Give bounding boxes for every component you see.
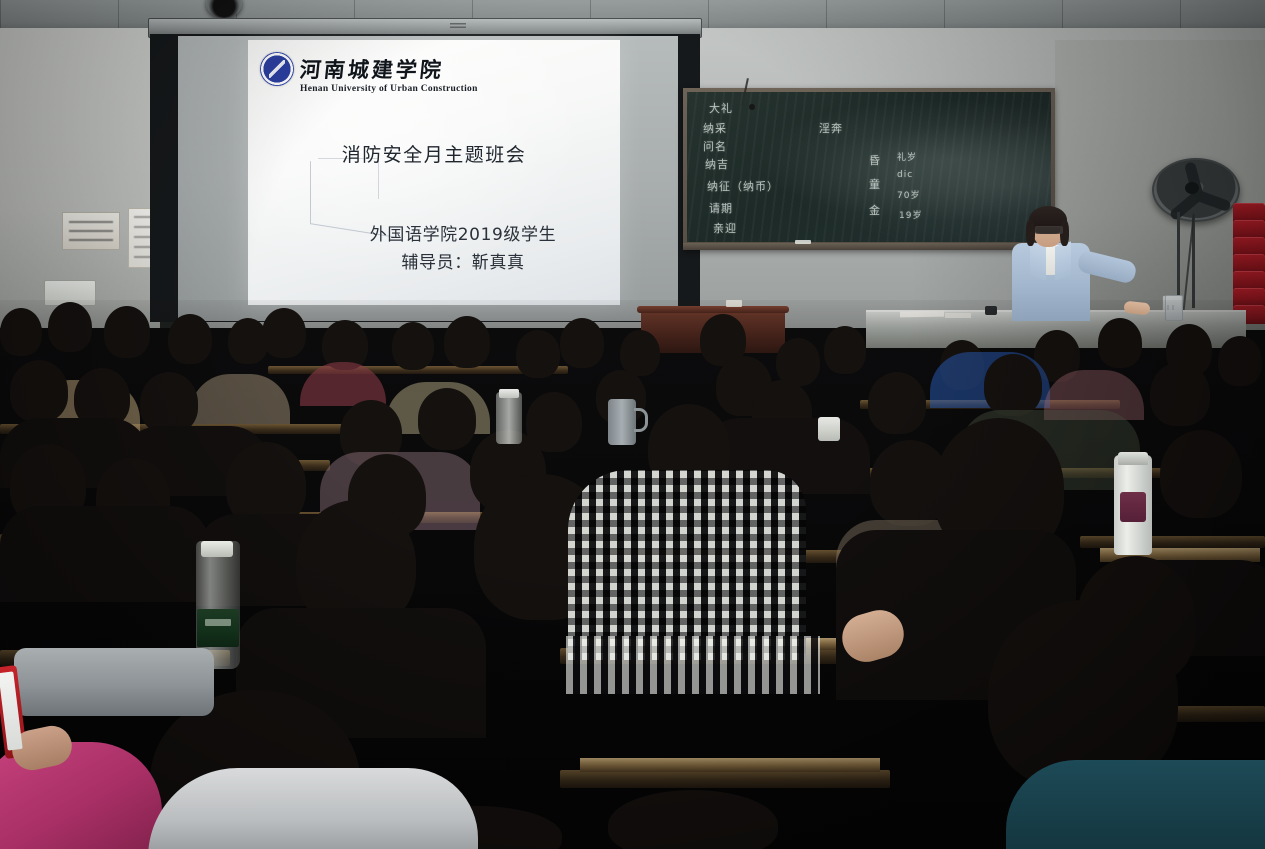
housing-vent-icon [450, 23, 466, 30]
audience-head [104, 306, 150, 358]
pointer-rod-tip [749, 104, 755, 110]
slide-subtitle-presenter: 辅导员：靳真真 [248, 248, 620, 273]
audience-head [824, 326, 866, 374]
chalk-text: 童 [869, 176, 881, 192]
water-bottle-label [197, 609, 239, 647]
chalk-text: 大礼 [709, 100, 733, 116]
presenter-lapel-left [1030, 241, 1046, 280]
audience-head [984, 354, 1042, 416]
audience-head [560, 318, 604, 368]
desk-row [1080, 536, 1265, 548]
presenter-glasses-icon [1035, 226, 1063, 234]
thermos-cap [1118, 452, 1148, 465]
gingham-jacket-lower [566, 636, 820, 694]
audience-head [140, 372, 198, 434]
chalk-text: 纳采 [703, 120, 727, 136]
presenter-lapel-right [1055, 241, 1071, 280]
university-crest-icon [260, 52, 294, 86]
audience-head [620, 330, 660, 376]
audience-head [444, 316, 490, 368]
audience-head [1150, 362, 1210, 426]
thermos-cartoon-art [1120, 492, 1146, 522]
lecture-hall-photo: 河南城建学院 Henan University of Urban Constru… [0, 0, 1265, 849]
chalk-text: 纳吉 [705, 156, 729, 172]
audience-head [0, 308, 42, 356]
gray-bag [14, 648, 214, 716]
chalk-text: 昏 [869, 152, 881, 168]
presenter-hair-side [1026, 220, 1035, 246]
chalk-text: 纳征（纳币） [707, 178, 779, 194]
chalk-text: 19岁 [899, 208, 922, 221]
water-bottle-small-cap [499, 389, 519, 398]
teal-jacket [1006, 760, 1265, 849]
gingham-jacket [568, 470, 806, 660]
water-bottle-cap [201, 541, 233, 557]
desk-row [560, 770, 890, 788]
audience-head [1160, 430, 1242, 518]
wall-sign-primary [62, 212, 120, 250]
audience-head [168, 314, 212, 364]
chalk-stick-icon [795, 240, 811, 244]
audience-head [392, 322, 434, 370]
chalk-text: 问名 [703, 138, 727, 154]
university-logo-row: 河南城建学院 [260, 52, 444, 86]
water-bottle-small [496, 392, 522, 444]
audience-head [1098, 318, 1142, 368]
audience-head [48, 302, 92, 352]
audience-head [516, 330, 560, 378]
audience-head [10, 360, 68, 422]
chalk-tray [683, 243, 1055, 250]
audience-head [418, 388, 476, 450]
blackboard: 大礼 纳采 问名 纳吉 纳征（纳币） 请期 亲迎 淫奔 昏 童 金 礼岁 dic… [687, 92, 1051, 242]
wall-sign-text [69, 221, 113, 241]
chalk-text: 请期 [709, 200, 733, 216]
travel-mug [608, 399, 636, 445]
projected-slide: 河南城建学院 Henan University of Urban Constru… [248, 40, 620, 305]
chalk-text: 礼岁 [897, 150, 917, 163]
chalk-text: 淫奔 [819, 120, 843, 136]
chalk-text: 金 [869, 202, 881, 218]
chalk-text: dic [897, 170, 913, 180]
white-gray-top [148, 768, 478, 849]
university-name-en: Henan University of Urban Construction [300, 84, 478, 94]
audience-head [262, 308, 306, 358]
audience-head [1218, 336, 1262, 386]
audience-head [776, 338, 820, 386]
chalk-text: 70岁 [897, 188, 920, 201]
white-cup [818, 417, 840, 441]
bench-seat [580, 758, 880, 772]
audience-head [868, 372, 926, 434]
desk-row [1170, 706, 1265, 722]
travel-mug-handle [634, 408, 648, 432]
fan-hub [1185, 182, 1199, 194]
university-name-cn: 河南城建学院 [298, 54, 445, 84]
chalk-text: 亲迎 [713, 220, 737, 236]
slide-title: 消防安全月主题班会 [248, 140, 620, 167]
slide-subtitle-audience: 外国语学院2019级学生 [248, 220, 620, 245]
audience-shoulder [0, 506, 210, 602]
